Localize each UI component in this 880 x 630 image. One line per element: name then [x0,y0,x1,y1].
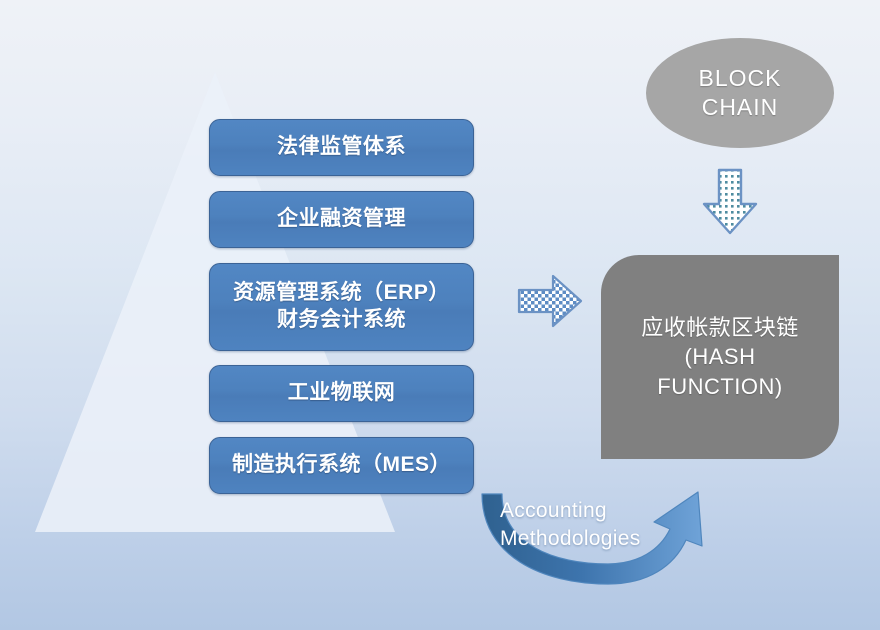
dotted-down-arrow [700,168,760,236]
blockchain-ellipse-label: BLOCK CHAIN [699,64,782,122]
layer-box-label: 法律监管体系 [277,134,406,161]
layer-box-corporate-financing[interactable]: 企业融资管理 [209,191,474,248]
layer-box-label: 制造执行系统（MES） [232,452,451,479]
layer-box-erp-accounting[interactable]: 资源管理系统（ERP） 财务会计系统 [209,263,474,351]
hash-function-block[interactable]: 应收帐款区块链 (HASH FUNCTION) [601,255,839,459]
layer-box-mes[interactable]: 制造执行系统（MES） [209,437,474,494]
layer-box-label: 工业物联网 [288,380,396,407]
layer-box-legal-regulatory[interactable]: 法律监管体系 [209,119,474,176]
layer-box-label: 资源管理系统（ERP） 财务会计系统 [233,280,450,334]
diagram-canvas: 法律监管体系 企业融资管理 资源管理系统（ERP） 财务会计系统 工业物联网 制… [0,0,880,630]
blockchain-ellipse[interactable]: BLOCK CHAIN [646,38,834,148]
checkered-right-arrow [517,273,583,329]
layer-box-industrial-iot[interactable]: 工业物联网 [209,365,474,422]
layer-box-label: 企业融资管理 [277,206,406,233]
accounting-methodologies-label: Accounting Methodologies [500,497,690,552]
hash-function-label: 应收帐款区块链 (HASH FUNCTION) [641,313,799,400]
